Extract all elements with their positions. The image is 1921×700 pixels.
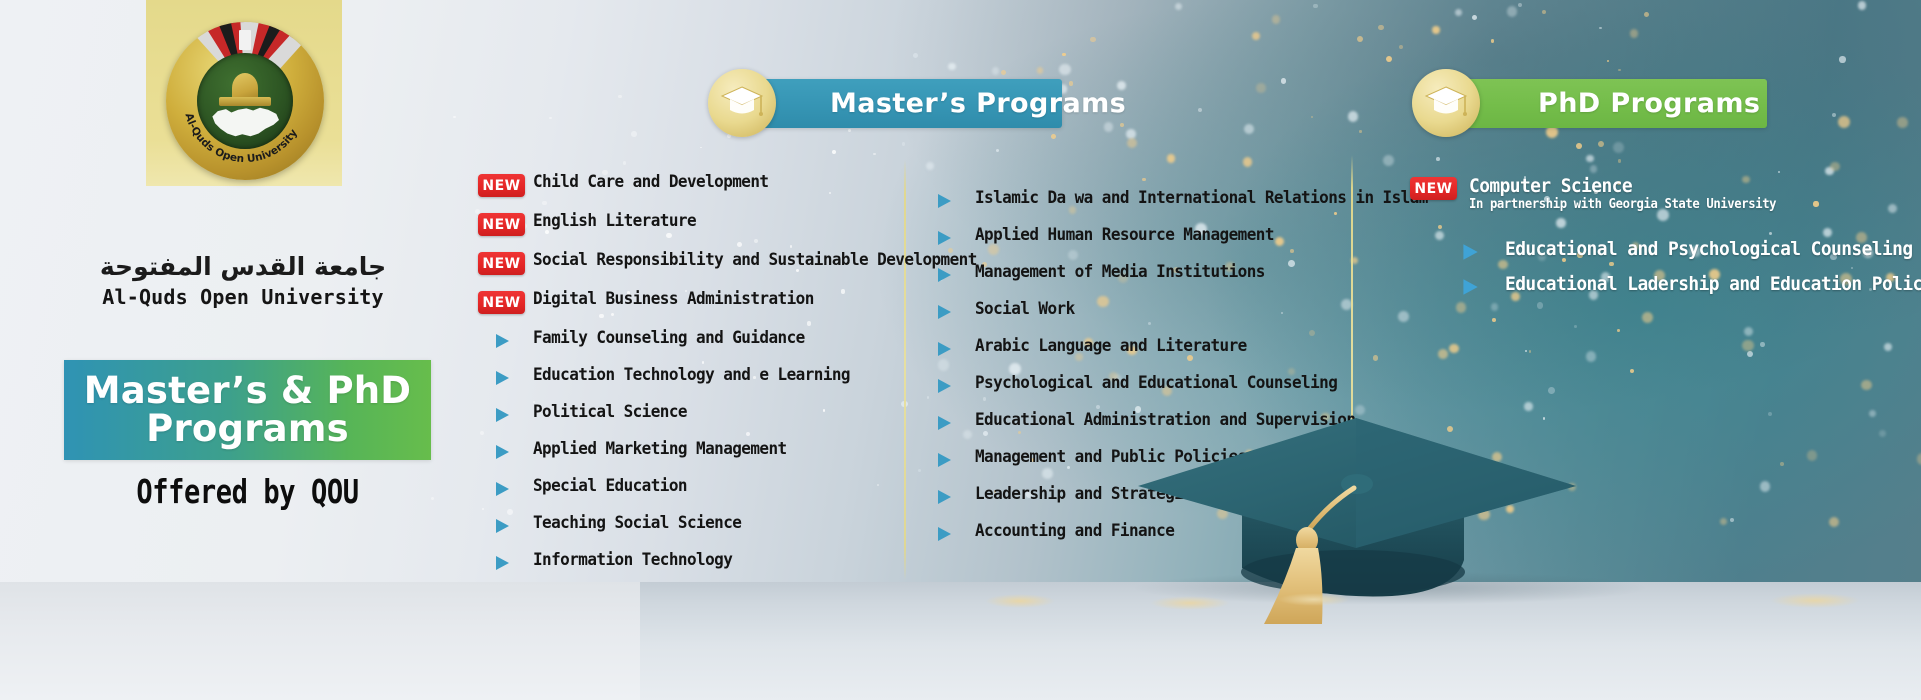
bokeh-particle <box>623 161 626 164</box>
poster-title-box: Master’s & PhD Programs <box>64 360 431 460</box>
bokeh-particle <box>1576 143 1582 149</box>
bokeh-particle <box>1378 25 1383 30</box>
wheat-sprig-decor <box>1770 593 1860 608</box>
crest-emblem <box>197 53 293 149</box>
bokeh-particle <box>1861 380 1872 391</box>
graduation-cap-icon <box>1412 69 1480 137</box>
bokeh-particle <box>1104 122 1113 131</box>
program-list-item[interactable]: Social Work <box>920 299 1457 322</box>
arrow-bullet-icon <box>920 339 967 359</box>
program-list-item[interactable]: Management of Media Institutions <box>920 262 1457 285</box>
arrow-bullet-icon <box>1446 276 1493 298</box>
bokeh-particle <box>431 497 434 500</box>
bokeh-particle <box>1281 78 1287 84</box>
program-name: Psychological and Educational Counseling <box>975 373 1337 393</box>
bokeh-particle <box>1730 518 1734 522</box>
bokeh-particle <box>1586 351 1597 362</box>
bokeh-particle <box>948 63 955 70</box>
bokeh-particle <box>1644 12 1649 17</box>
graduation-cap-glyph <box>1424 83 1468 123</box>
program-name: Family Counseling and Guidance <box>533 328 805 348</box>
bokeh-particle <box>453 116 455 118</box>
bokeh-particle <box>1472 15 1477 20</box>
poster-title-line1: Master’s & PhD <box>84 372 411 410</box>
program-name: Education Technology and e Learning <box>533 365 850 385</box>
bokeh-particle <box>1778 171 1781 174</box>
bokeh-particle <box>1858 1 1867 10</box>
program-name: Applied Marketing Management <box>533 439 787 459</box>
bokeh-particle <box>1839 56 1845 62</box>
bokeh-particle <box>1780 462 1784 466</box>
bokeh-particle <box>1175 3 1182 10</box>
bokeh-particle <box>1090 37 1095 42</box>
bokeh-particle <box>1630 369 1634 373</box>
section-header-phd-label: PhD Programs <box>1538 88 1760 119</box>
program-name: English Literature <box>533 211 696 231</box>
program-list-item[interactable]: Islamic Da wa and International Relation… <box>920 188 1457 211</box>
arrow-bullet-icon <box>920 376 967 396</box>
wheat-sprig-decor <box>1278 593 1350 606</box>
bokeh-particle <box>1586 155 1594 163</box>
university-crest-icon: Al-Quds Open University <box>166 22 324 180</box>
bokeh-particle <box>913 53 918 58</box>
bokeh-particle <box>1198 108 1202 112</box>
bokeh-particle <box>618 95 621 98</box>
program-name: Educational Ladership and Education Poli… <box>1505 273 1921 295</box>
poster-subtitle: Offered by QOU <box>97 472 398 511</box>
bokeh-particle <box>1386 56 1392 62</box>
arrow-bullet-icon <box>920 302 967 322</box>
program-list-item[interactable]: NEWComputer ScienceIn partnership with G… <box>1410 175 1921 212</box>
bokeh-particle <box>1120 123 1124 127</box>
section-header-masters: Master’s Programs <box>742 79 1062 128</box>
bokeh-particle <box>1744 327 1753 336</box>
bokeh-particle <box>1599 27 1602 30</box>
program-name: Digital Business Administration <box>533 289 814 309</box>
bokeh-particle <box>1768 412 1772 416</box>
bokeh-particle <box>1507 6 1517 16</box>
arrow-bullet-icon <box>478 553 525 573</box>
bokeh-particle <box>1525 350 1527 352</box>
bokeh-particle <box>926 162 934 170</box>
program-name: Special Education <box>533 476 687 496</box>
arrow-bullet-icon <box>920 228 967 248</box>
arrow-bullet-icon <box>920 191 967 211</box>
wheat-sprig-decor <box>985 594 1055 608</box>
bokeh-particle <box>1243 157 1252 166</box>
poster-title-line2: Programs <box>146 410 349 448</box>
bokeh-particle <box>1357 36 1363 42</box>
bokeh-particle <box>1590 165 1597 172</box>
program-name: Educational and Psychological Counseling <box>1505 238 1913 260</box>
bokeh-particle <box>1642 312 1653 323</box>
bokeh-particle <box>1760 481 1771 492</box>
program-subtitle: In partnership with Georgia State Univer… <box>1469 197 1776 212</box>
arrow-bullet-icon <box>920 265 967 285</box>
program-list-item[interactable]: Arabic Language and Literature <box>920 336 1457 359</box>
bokeh-particle <box>873 153 875 155</box>
bokeh-particle <box>1051 134 1056 139</box>
bokeh-particle <box>1518 3 1522 7</box>
arrow-bullet-icon <box>478 331 525 351</box>
bokeh-particle <box>631 131 637 137</box>
list-spacer <box>1410 222 1921 238</box>
bokeh-particle <box>1529 350 1532 353</box>
bokeh-particle <box>1313 4 1318 9</box>
floor-surface-left <box>0 582 640 700</box>
section-header-phd: PhD Programs <box>1442 79 1767 128</box>
program-name: Teaching Social Science <box>533 513 741 533</box>
dome-base <box>219 97 271 106</box>
arrow-bullet-icon <box>478 405 525 425</box>
bokeh-particle <box>1917 453 1921 464</box>
program-list-item[interactable]: Educational Ladership and Education Poli… <box>1410 273 1921 298</box>
bokeh-particle <box>1436 157 1440 161</box>
bokeh-particle <box>1832 113 1836 117</box>
new-badge: NEW <box>478 174 525 197</box>
program-list-item[interactable]: Applied Human Resource Management <box>920 225 1457 248</box>
arrow-bullet-icon <box>478 516 525 536</box>
program-name: Computer Science <box>1469 175 1776 197</box>
bokeh-particle <box>1607 60 1609 62</box>
bokeh-particle <box>1807 450 1817 460</box>
program-name: Social Responsibility and Sustainable De… <box>533 250 977 270</box>
section-header-masters-label: Master’s Programs <box>830 88 1126 119</box>
bokeh-particle <box>1399 45 1403 49</box>
bokeh-particle <box>1311 116 1314 119</box>
arrow-bullet-icon <box>478 442 525 462</box>
bokeh-particle <box>1127 138 1137 148</box>
bokeh-particle <box>1618 69 1621 72</box>
bokeh-particle <box>1256 83 1265 92</box>
arrow-bullet-icon <box>920 487 967 507</box>
program-name: Information Technology <box>533 550 732 570</box>
program-name: Management of Media Institutions <box>975 262 1265 282</box>
arrow-bullet-icon <box>478 368 525 388</box>
bokeh-particle <box>1359 130 1361 132</box>
bokeh-particle <box>1830 162 1839 171</box>
bokeh-particle <box>549 117 551 119</box>
crest-keystone <box>239 30 251 50</box>
bokeh-particle <box>1742 340 1753 351</box>
program-name: Child Care and Development <box>533 172 768 192</box>
bokeh-particle <box>1069 81 1074 86</box>
new-badge: NEW <box>478 252 525 275</box>
bokeh-particle <box>832 150 836 154</box>
university-name-english: Al-Quds Open University <box>0 285 486 309</box>
program-name: Social Work <box>975 299 1075 319</box>
bokeh-particle <box>1618 159 1621 162</box>
bokeh-particle <box>1059 64 1070 75</box>
bokeh-particle <box>992 67 1000 75</box>
bokeh-particle <box>1252 32 1260 40</box>
arrow-bullet-icon <box>478 479 525 499</box>
program-name: Political Science <box>533 402 687 422</box>
bokeh-particle <box>1348 111 1359 122</box>
bokeh-particle <box>1548 387 1555 394</box>
arrow-bullet-icon <box>920 450 967 470</box>
bokeh-particle <box>1838 116 1850 128</box>
bokeh-particle <box>902 142 905 145</box>
bokeh-particle <box>1884 343 1893 352</box>
bokeh-particle <box>1574 325 1577 328</box>
university-name-arabic: جامعة القدس المفتوحة <box>0 252 486 281</box>
bokeh-particle <box>1829 517 1839 527</box>
bokeh-particle <box>1432 26 1439 33</box>
program-name: Applied Human Resource Management <box>975 225 1274 245</box>
bokeh-particle <box>1542 10 1546 14</box>
bokeh-particle <box>1167 154 1176 163</box>
bokeh-particle <box>1747 351 1754 358</box>
bokeh-particle <box>1617 329 1620 332</box>
bokeh-particle <box>1126 129 1136 139</box>
bokeh-particle <box>1492 318 1496 322</box>
program-name: Arabic Language and Literature <box>975 336 1247 356</box>
new-badge: NEW <box>478 291 525 314</box>
bokeh-particle <box>1720 518 1727 525</box>
bokeh-particle <box>1383 155 1394 166</box>
bokeh-particle <box>1491 39 1495 43</box>
bokeh-particle <box>1037 67 1044 74</box>
arab-world-map-icon <box>211 105 279 139</box>
bokeh-particle <box>1760 342 1765 347</box>
bokeh-particle <box>1613 142 1624 153</box>
bokeh-particle <box>700 147 702 149</box>
wheat-sprig-decor <box>1150 596 1230 610</box>
bokeh-particle <box>1455 9 1462 16</box>
graduation-cap-icon <box>708 69 776 137</box>
bokeh-particle <box>1869 410 1876 417</box>
bokeh-particle <box>1244 124 1254 134</box>
bokeh-particle <box>1142 178 1145 181</box>
bokeh-particle <box>1062 53 1066 57</box>
bokeh-particle <box>848 129 851 132</box>
arrow-bullet-icon <box>1446 241 1493 263</box>
new-badge: NEW <box>1410 177 1457 200</box>
bokeh-particle <box>1879 430 1886 437</box>
bokeh-particle <box>1630 29 1639 38</box>
graduation-cap-glyph <box>720 83 764 123</box>
poster-canvas: Al-Quds Open University جامعة القدس المف… <box>0 0 1921 700</box>
bokeh-particle <box>1897 117 1907 127</box>
bokeh-particle <box>1598 141 1604 147</box>
program-name: Islamic Da wa and International Relation… <box>975 188 1428 208</box>
bokeh-particle <box>1272 15 1281 24</box>
new-badge: NEW <box>478 213 525 236</box>
program-list-item[interactable]: Educational and Psychological Counseling <box>1410 238 1921 263</box>
phd-program-list: NEWComputer ScienceIn partnership with G… <box>1410 175 1921 308</box>
bokeh-particle <box>996 149 999 152</box>
arrow-bullet-icon <box>920 413 967 433</box>
arrow-bullet-icon <box>920 524 967 544</box>
program-list-item[interactable]: Psychological and Educational Counseling <box>920 373 1457 396</box>
bokeh-particle <box>1001 70 1007 76</box>
